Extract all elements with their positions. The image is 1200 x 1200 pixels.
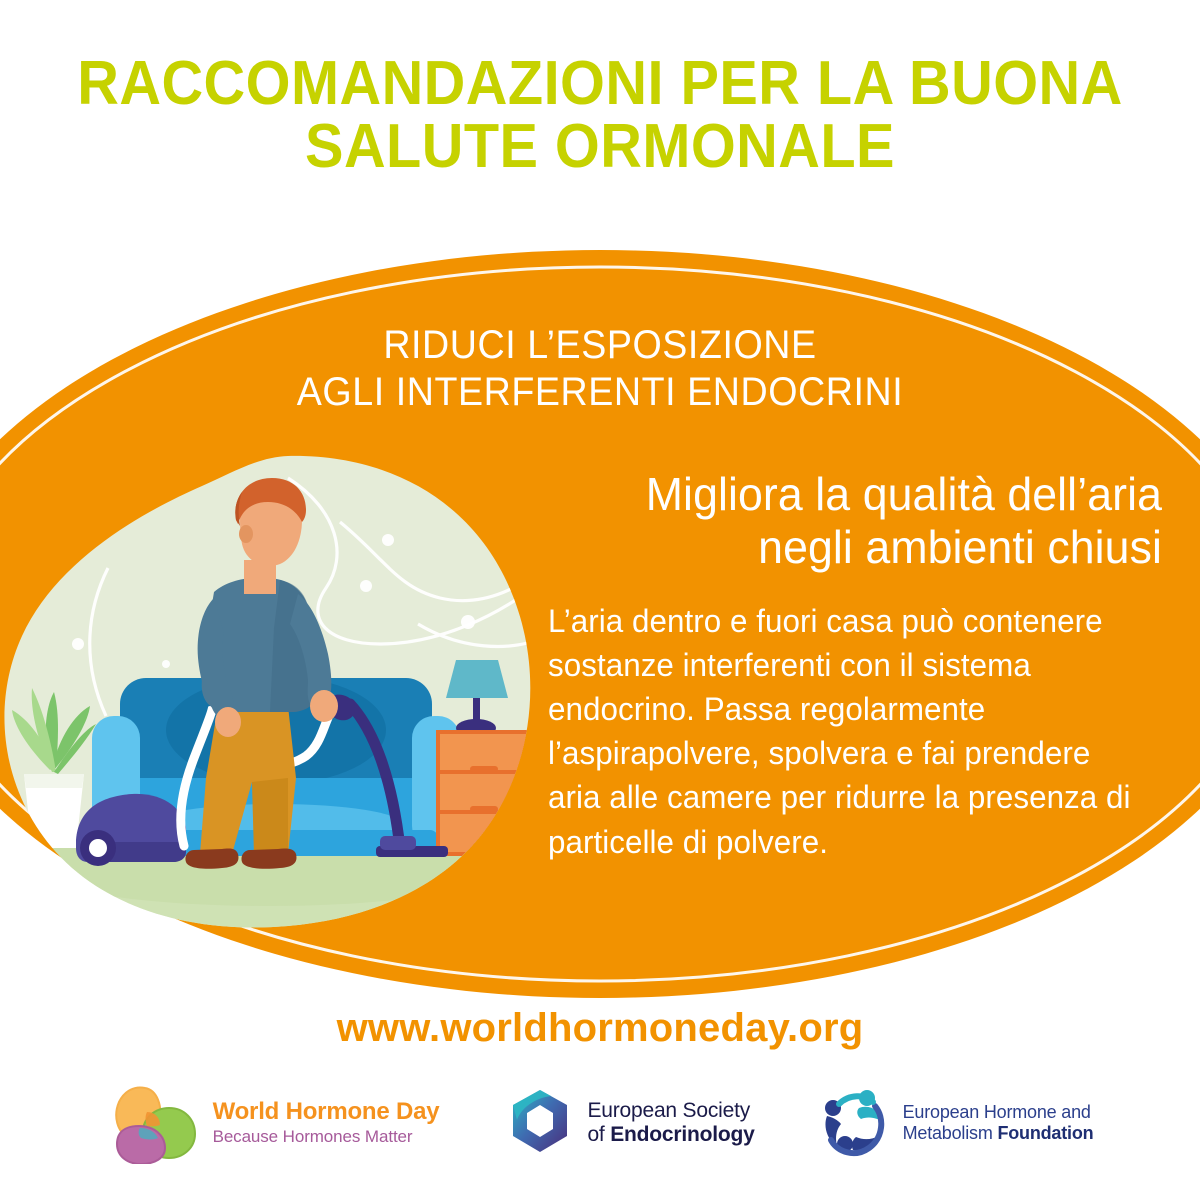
whd-logo-line-1: World Hormone Day (213, 1099, 440, 1125)
shoe-left (185, 849, 238, 869)
ese-logo-line-1: European Society (587, 1099, 754, 1123)
ehmf-logo-line-2-prefix: Metabolism (903, 1123, 998, 1143)
ese-logo-line-2-prefix: of (587, 1123, 610, 1146)
ese-logo-line-2: of Endocrinology (587, 1123, 754, 1147)
ehmf-logo-line-2-bold: Foundation (997, 1123, 1093, 1143)
ehmf-logo-line-2: Metabolism Foundation (903, 1123, 1094, 1144)
shoe-right (241, 849, 296, 869)
copy-column: Migliora la qualità dell’aria negli ambi… (548, 468, 1162, 864)
whd-logo-line-2: Because Hormones Matter (213, 1127, 440, 1147)
lamp-shade (446, 660, 508, 698)
ehmf-logo-line-1: European Hormone and (903, 1102, 1094, 1123)
logo-row: World Hormone Day Because Hormones Matte… (0, 1068, 1200, 1178)
ehmf-people-circle-mark-icon (819, 1086, 893, 1160)
kicker-line-2: AGLI INTERFERENTI ENDOCRINI (36, 369, 1164, 416)
world-hormone-day-mark-icon (107, 1082, 203, 1164)
kicker-line-1: RIDUCI L’ESPOSIZIONE (36, 322, 1164, 369)
website-url[interactable]: www.worldhormoneday.org (0, 1006, 1200, 1051)
content-body: L’aria dentro e fuori casa può contenere… (548, 599, 1150, 864)
poster-title: RACCOMANDAZIONI PER LA BUONA SALUTE ORMO… (0, 52, 1200, 178)
hand-left (215, 707, 241, 737)
illustration-man-vacuuming (0, 448, 548, 948)
poster-canvas: RACCOMANDAZIONI PER LA BUONA SALUTE ORMO… (0, 0, 1200, 1200)
banner-kicker: RIDUCI L’ESPOSIZIONE AGLI INTERFERENTI E… (0, 322, 1200, 416)
hand-right (310, 690, 338, 722)
poster-title-line-2: SALUTE ORMONALE (42, 115, 1158, 178)
content-headline: Migliora la qualità dell’aria negli ambi… (566, 468, 1162, 575)
ese-hexagon-mark-icon (503, 1086, 577, 1160)
ese-logo-line-2-bold: Endocrinology (610, 1123, 754, 1146)
logo-european-society-of-endocrinology[interactable]: European Society of Endocrinology (503, 1086, 754, 1160)
logo-european-hormone-metabolism-foundation[interactable]: European Hormone and Metabolism Foundati… (819, 1086, 1094, 1160)
logo-world-hormone-day[interactable]: World Hormone Day Because Hormones Matte… (107, 1082, 440, 1164)
poster-title-line-1: RACCOMANDAZIONI PER LA BUONA (42, 52, 1158, 115)
